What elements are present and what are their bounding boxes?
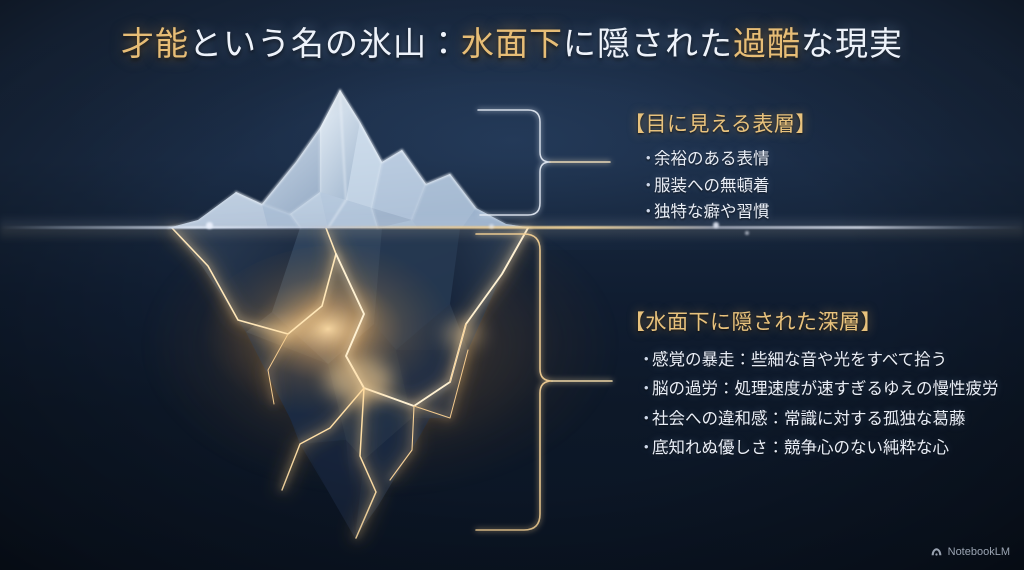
list-item-label: 底知れぬ優しさ：競争心のない純粋な心 [652, 438, 949, 457]
list-item: ・余裕のある表情 [640, 146, 817, 173]
title-segment-3: に隠された [563, 27, 733, 63]
bullet-marker-icon: ・ [638, 345, 652, 374]
list-item: ・服装への無頓着 [640, 173, 817, 200]
slide-canvas: 才能という名の氷山：水面下に隠された過酷な現実 【目に見える表層】 ・余裕のある… [0, 0, 1024, 570]
page-title: 才能という名の氷山：水面下に隠された過酷な現実 [0, 17, 1024, 65]
bullet-marker-icon: ・ [640, 199, 654, 226]
surface-layer-list: ・余裕のある表情 ・服装への無頓着 ・独特な癖や習慣 [624, 146, 817, 226]
notebooklm-icon [930, 545, 943, 558]
list-item: ・底知れぬ優しさ：競争心のない純粋な心 [638, 433, 999, 462]
bullet-marker-icon: ・ [640, 146, 654, 173]
list-item-label: 感覚の暴走：些細な音や光をすべて拾う [652, 350, 947, 369]
deep-layer-list: ・感覚の暴走：些細な音や光をすべて拾う ・脳の過労：処理速度が速すぎるゆえの慢性… [624, 345, 999, 462]
background-vignette [0, 0, 1024, 570]
list-item: ・感覚の暴走：些細な音や光をすべて拾う [638, 345, 999, 374]
bullet-marker-icon: ・ [638, 374, 652, 403]
surface-layer-heading: 【目に見える表層】 [624, 108, 817, 138]
bullet-marker-icon: ・ [638, 404, 652, 433]
bullet-marker-icon: ・ [640, 173, 654, 200]
deep-layer-heading: 【水面下に隠された深層】 [624, 306, 999, 336]
list-item-label: 脳の過労：処理速度が速すぎるゆえの慢性疲労 [652, 379, 999, 398]
list-item: ・独特な癖や習慣 [640, 199, 817, 226]
list-item-label: 独特な癖や習慣 [654, 202, 770, 221]
bullet-marker-icon: ・ [638, 433, 652, 462]
title-segment-2: 水面下 [461, 27, 563, 63]
title-segment-0: 才能 [121, 27, 189, 63]
surface-layer-panel: 【目に見える表層】 ・余裕のある表情 ・服装への無頓着 ・独特な癖や習慣 [624, 108, 817, 226]
notebooklm-label: NotebookLM [948, 546, 1010, 558]
list-item-label: 服装への無頓着 [654, 176, 770, 195]
list-item-label: 余裕のある表情 [654, 149, 770, 168]
list-item-label: 社会への違和感：常識に対する孤独な葛藤 [652, 409, 966, 428]
title-segment-5: な現実 [801, 27, 903, 63]
list-item: ・脳の過労：処理速度が速すぎるゆえの慢性疲労 [638, 374, 999, 403]
deep-layer-panel: 【水面下に隠された深層】 ・感覚の暴走：些細な音や光をすべて拾う ・脳の過労：処… [624, 306, 999, 462]
notebooklm-watermark: NotebookLM [930, 545, 1010, 558]
title-segment-4: 過酷 [733, 27, 801, 63]
title-segment-1: という名の氷山： [189, 27, 461, 63]
list-item: ・社会への違和感：常識に対する孤独な葛藤 [638, 404, 999, 433]
